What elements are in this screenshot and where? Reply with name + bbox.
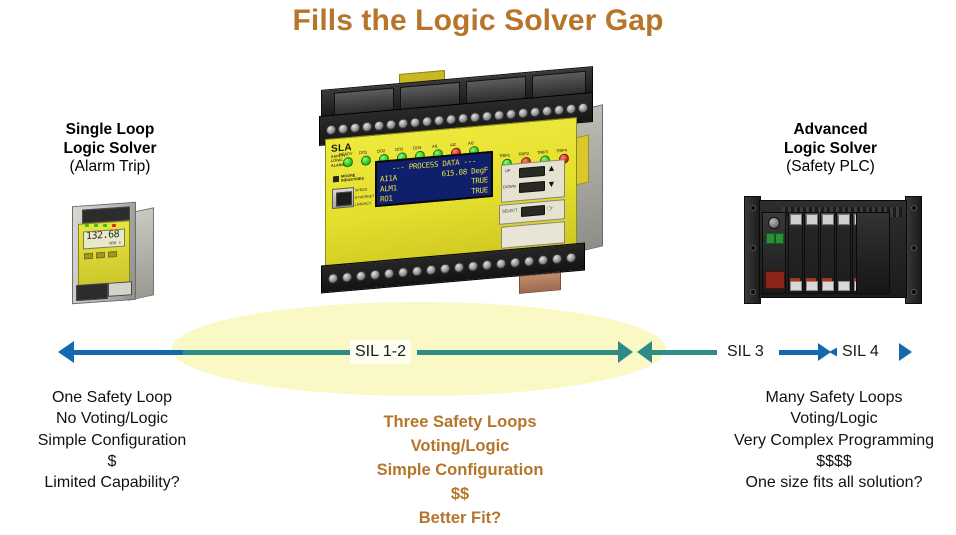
- safety-plc-rack-device-image: [744, 196, 920, 302]
- sla-led-label-trip2: TRIP2: [518, 151, 529, 157]
- alarm-trip-button-1[interactable]: [84, 253, 93, 260]
- sil-3-left-arrowhead: [637, 341, 652, 363]
- sil-12-right-arrowhead: [618, 341, 633, 363]
- sla-led-label-trip3: TRIP3: [537, 149, 548, 155]
- right-desc-line-2: Voting/Logic: [712, 408, 956, 429]
- alarm-trip-led-4: [112, 224, 116, 227]
- sla-led-label-do4: DO4: [413, 145, 421, 151]
- center-desc-line-5: Better Fit?: [320, 507, 600, 531]
- sil-12-bar-left: [183, 350, 351, 355]
- sla-button-label-up: UP: [505, 168, 511, 173]
- sla-led-label-do3: DO3: [395, 146, 403, 152]
- left-heading-line2: Logic Solver: [10, 140, 210, 159]
- sla-led-label-ai1: AI1: [432, 143, 438, 148]
- left-heading-line1: Single Loop: [10, 121, 210, 140]
- sil-12-bar-right: [417, 350, 621, 355]
- sla-din-rail-clip: [519, 272, 561, 294]
- sil-label-4: SIL 4: [837, 340, 884, 364]
- sla-safety-logic-solver-device-image: READY DO1 DO2 DO3 DO4 AI1 AI2 AI3 TRIP1 …: [313, 78, 605, 290]
- down-arrow-icon: ▼: [547, 180, 556, 190]
- right-desc-line-4: $$$$: [712, 451, 956, 472]
- left-desc-line-1: One Safety Loop: [0, 387, 224, 408]
- plc-psu-terminal-2: [775, 233, 784, 244]
- sla-brand-block: SLA SAFETY LOGIC ALARM: [331, 143, 352, 168]
- left-desc-line-4: $: [0, 451, 224, 472]
- sla-led-label-do2: DO2: [377, 148, 385, 154]
- sil-label-3: SIL 3: [722, 340, 769, 364]
- sla-led-label-do1: DO1: [359, 150, 367, 156]
- left-column-description: One Safety Loop No Voting/Logic Simple C…: [0, 387, 224, 493]
- sil-3-bar: [651, 350, 717, 355]
- center-desc-line-3: Simple Configuration: [320, 459, 600, 483]
- plc-rack-chassis: [744, 196, 920, 302]
- page-title: Fills the Logic Solver Gap: [0, 4, 956, 38]
- sla-ethernet-jack: [332, 187, 354, 209]
- sla-led-label-trip1: TRIP1: [499, 153, 510, 159]
- plc-rack-right-rail: [905, 196, 922, 304]
- right-column-heading: Advanced Logic Solver (Safety PLC): [728, 121, 933, 177]
- ethernet-port-icon: [336, 191, 352, 206]
- alarm-trip-led-3: [103, 224, 107, 227]
- right-column-description: Many Safety Loops Voting/Logic Very Comp…: [712, 387, 956, 493]
- sil-4-bar: [779, 350, 821, 355]
- up-arrow-icon: ▲: [547, 164, 556, 174]
- sla-led-do1: [361, 155, 371, 166]
- alarm-trip-button-2[interactable]: [96, 252, 105, 259]
- alarm-trip-button-3[interactable]: [108, 251, 117, 258]
- sla-led-label-ai3: AI3: [468, 140, 474, 145]
- left-desc-line-5: Limited Capability?: [0, 472, 224, 493]
- right-heading-line2: Logic Solver: [728, 140, 933, 159]
- alarm-trip-bottom-terminals: [76, 283, 108, 301]
- sla-led-label-ai2: AI2: [450, 142, 456, 147]
- alarm-trip-led-2: [94, 224, 98, 227]
- sil-label-1-2: SIL 1-2: [350, 340, 411, 364]
- center-column-description: Three Safety Loops Voting/Logic Simple C…: [320, 411, 600, 531]
- plc-io-module-2: [804, 212, 819, 294]
- center-desc-line-1: Three Safety Loops: [320, 411, 600, 435]
- right-heading-line3: (Safety PLC): [728, 158, 933, 177]
- sla-lcd-row-3-value: TRUE: [471, 185, 488, 196]
- sil-left-blue-bar: [73, 350, 185, 355]
- hand-pointer-icon: ☞: [547, 204, 554, 214]
- center-desc-line-2: Voting/Logic: [320, 435, 600, 459]
- center-desc-line-4: $$: [320, 483, 600, 507]
- left-desc-line-3: Simple Configuration: [0, 430, 224, 451]
- plc-filler-panel: [856, 212, 890, 294]
- left-heading-line3: (Alarm Trip): [10, 158, 210, 177]
- plc-power-supply-module: [762, 212, 786, 294]
- plc-power-knob[interactable]: [768, 217, 780, 229]
- sla-select-button[interactable]: [521, 205, 545, 217]
- right-desc-line-1: Many Safety Loops: [712, 387, 956, 408]
- left-desc-line-2: No Voting/Logic: [0, 408, 224, 429]
- alarm-trip-bottom-label-plate: [108, 281, 132, 297]
- right-desc-line-5: One size fits all solution?: [712, 472, 956, 493]
- moore-industries-logo-icon: [333, 176, 339, 183]
- sla-lcd-row-3-tag: RO1: [380, 194, 393, 205]
- left-column-heading: Single Loop Logic Solver (Alarm Trip): [10, 121, 210, 177]
- plc-psu-terminal-1: [766, 233, 775, 244]
- right-heading-line1: Advanced: [728, 121, 933, 140]
- plc-io-module-1: [788, 212, 803, 294]
- sla-led-label-trip4: TRIP4: [556, 148, 567, 154]
- single-loop-alarm-trip-device-image: 132.68 %RH 1: [56, 196, 164, 304]
- sil-scale-end-arrowhead: [899, 343, 912, 361]
- plc-psu-label-plate: [765, 271, 785, 289]
- sil-capability-scale: SIL 1-2 SIL 3 SIL 4: [0, 326, 956, 374]
- plc-io-module-4: [836, 212, 851, 294]
- right-desc-line-3: Very Complex Programming: [712, 430, 956, 451]
- alarm-trip-led-1: [85, 224, 89, 227]
- alarm-trip-lcd: 132.68 %RH 1: [83, 229, 125, 250]
- plc-io-module-3: [820, 212, 835, 294]
- sil-left-arrowhead: [58, 341, 74, 363]
